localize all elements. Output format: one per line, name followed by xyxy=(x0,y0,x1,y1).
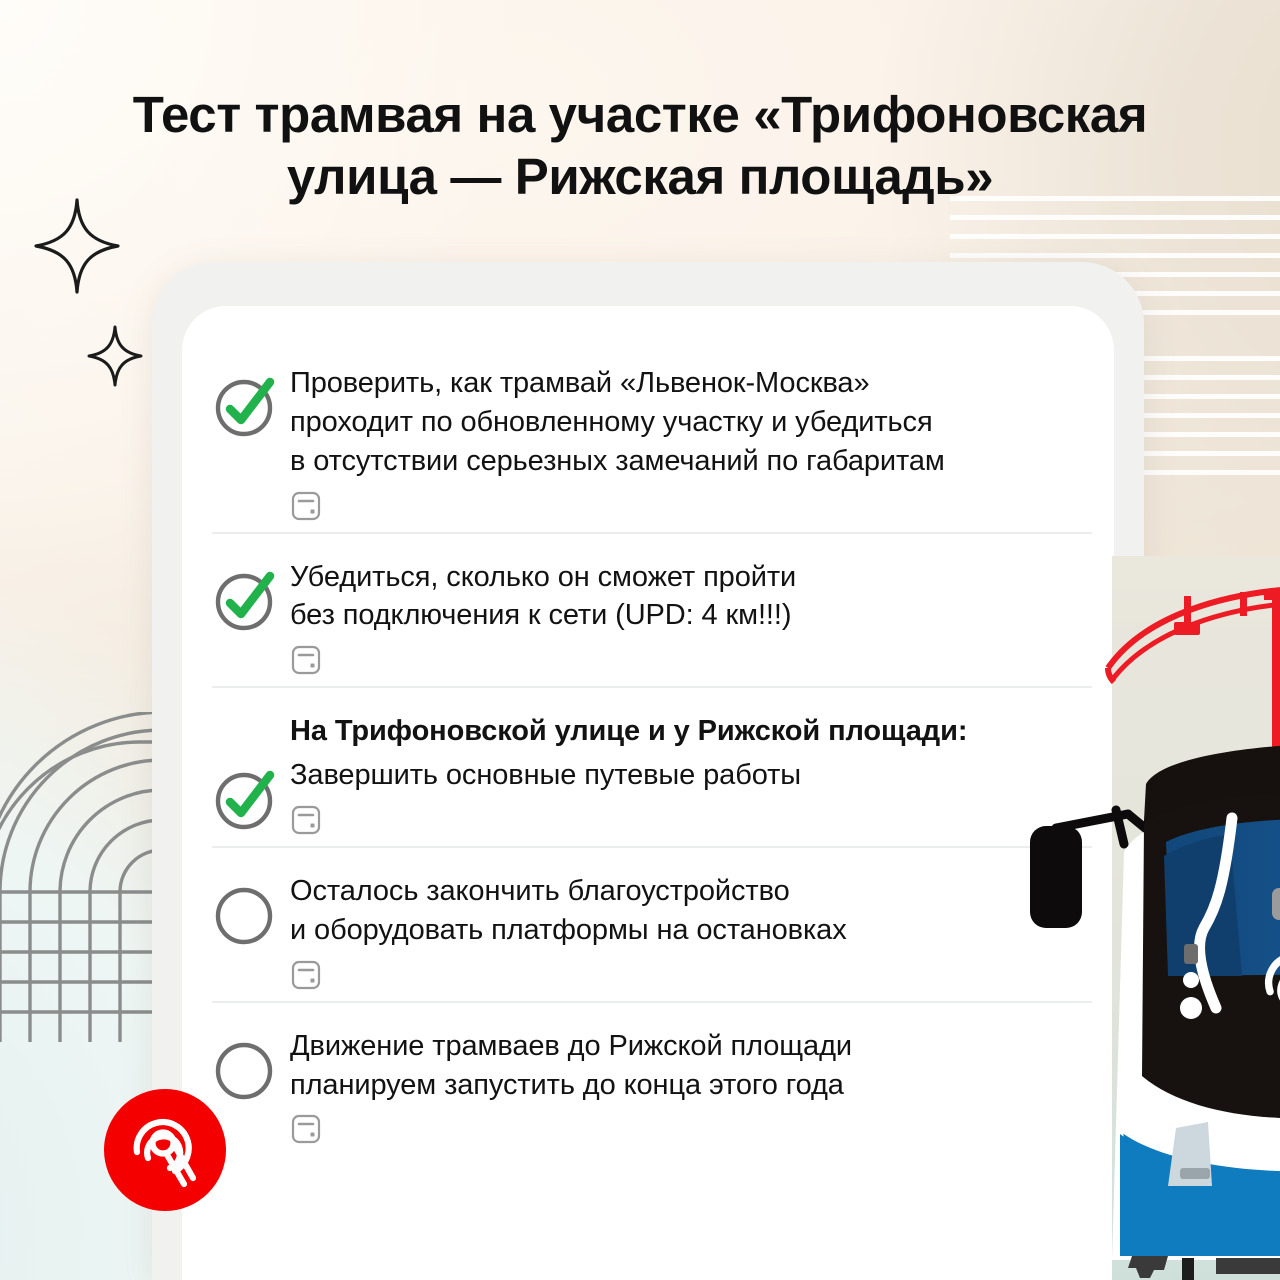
page-title: Тест трамвая на участке «Трифоновская ул… xyxy=(60,84,1220,208)
checkbox-checked-icon[interactable] xyxy=(212,370,282,440)
tram-illustration xyxy=(1016,556,1280,1280)
note-card-icon xyxy=(290,644,1092,676)
list-item-text: Убедиться, сколько он сможет пройти без … xyxy=(290,558,1092,636)
checkbox-checked-icon[interactable] xyxy=(212,763,282,833)
list-item-text: Движение трамваев до Рижской площади пла… xyxy=(290,1027,1092,1105)
list-item[interactable]: Убедиться, сколько он сможет пройти без … xyxy=(212,532,1092,687)
list-item-text: Осталось закончить благоустройство и обо… xyxy=(290,872,1092,950)
note-card-icon xyxy=(290,804,1092,836)
note-card-icon xyxy=(290,959,1092,991)
sparkle-icon-small xyxy=(86,324,144,388)
page-title-line-2: улица — Рижская площадь» xyxy=(60,146,1220,208)
page-title-line-1: Тест трамвая на участке «Трифоновская xyxy=(60,84,1220,146)
list-item[interactable]: Проверить, как трамвай «Львенок-Москва» … xyxy=(212,340,1092,532)
moscow-transport-logo-icon xyxy=(104,1089,226,1211)
list-item[interactable]: Движение трамваев до Рижской площади пла… xyxy=(212,1001,1092,1156)
poster-canvas: Тест трамвая на участке «Трифоновская ул… xyxy=(0,0,1280,1280)
list-item[interactable]: На Трифоновской улице и у Рижской площад… xyxy=(212,686,1092,846)
list-group-header: На Трифоновской улице и у Рижской площад… xyxy=(290,712,1092,751)
sparkle-icon xyxy=(32,196,122,296)
checkbox-unchecked-icon[interactable] xyxy=(212,878,282,948)
note-card-icon xyxy=(290,490,1092,522)
note-card-icon xyxy=(290,1113,1092,1145)
list-item[interactable]: Осталось закончить благоустройство и обо… xyxy=(212,846,1092,1001)
checkbox-checked-icon[interactable] xyxy=(212,564,282,634)
list-item-text: Проверить, как трамвай «Львенок-Москва» … xyxy=(290,364,1092,481)
checklist: Проверить, как трамвай «Львенок-Москва» … xyxy=(212,340,1092,1155)
list-item-text: Завершить основные путевые работы xyxy=(290,756,1092,795)
